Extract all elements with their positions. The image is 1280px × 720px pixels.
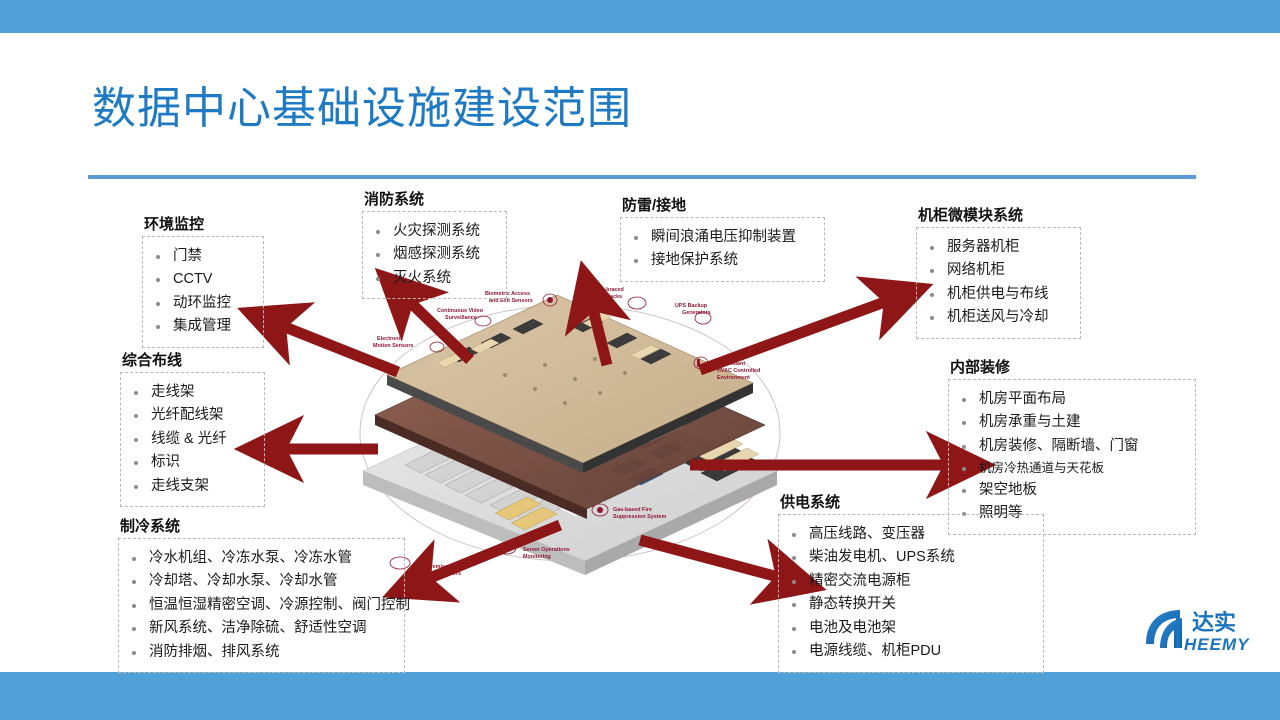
list-item: 电池及电池架 [783, 617, 1033, 640]
group-cabling-list: 走线架 光纤配线架 线缆 & 光纤 标识 走线支架 [125, 381, 254, 498]
bottom-bar [0, 672, 1280, 720]
list-item: 灭火系统 [367, 267, 496, 290]
list-item: 消防排烟、排风系统 [123, 641, 394, 664]
list-item: 网络机柜 [921, 259, 1070, 282]
group-environment-heading: 环境监控 [144, 216, 264, 234]
svg-text:Security Officers: Security Officers [418, 571, 461, 577]
group-cooling-box: 冷水机组、冷冻水泵、冷冻水管 冷却塔、冷却水泵、冷却水管 恒温恒湿精密空调、冷源… [118, 538, 405, 673]
list-item: 机房平面布局 [953, 388, 1185, 411]
group-fire: 消防系统 火灾探测系统 烟感探测系统 灭火系统 [362, 191, 507, 299]
group-cabling-heading: 综合布线 [122, 352, 265, 370]
list-item: 冷水机组、冷冻水泵、冷冻水管 [123, 547, 394, 570]
title-divider [88, 175, 1196, 179]
illus-label-gas: Gas-based Fire [613, 507, 652, 513]
illus-label-ops: Server Operations [523, 547, 570, 553]
list-item: 光纤配线架 [125, 404, 254, 427]
group-fire-box: 火灾探测系统 烟感探测系统 灭火系统 [362, 211, 507, 299]
list-item: 机柜供电与布线 [921, 283, 1070, 306]
svg-text:Server Racks: Server Racks [588, 294, 622, 300]
list-item: 接地保护系统 [625, 249, 814, 272]
slide: 数据中心基础设施建设范围 [0, 0, 1280, 720]
list-item: 走线支架 [125, 475, 254, 498]
illus-label-ups: UPS Backup [675, 303, 708, 309]
list-item: 电源线缆、机柜PDU [783, 640, 1033, 663]
group-cabinet-heading: 机柜微模块系统 [918, 207, 1081, 225]
list-item: 精密交流电源柜 [783, 570, 1033, 593]
datacenter-illustration: Electronic Motion Sensors Continuous Vid… [345, 283, 805, 578]
page-title: 数据中心基础设施建设范围 [92, 72, 632, 136]
list-item: 新风系统、洁净除硫、舒适性空调 [123, 617, 394, 640]
list-item: 门禁 [147, 245, 253, 268]
illus-label-video: Continuous Video [437, 308, 484, 314]
group-lightning-box: 瞬间浪涌电压抑制装置 接地保护系统 [620, 217, 825, 282]
group-cabling-box: 走线架 光纤配线架 线缆 & 光纤 标识 走线支架 [120, 372, 265, 507]
logo-mark [1146, 610, 1182, 648]
svg-text:Environment: Environment [717, 375, 750, 381]
group-fire-heading: 消防系统 [364, 191, 507, 209]
group-environment-list: 门禁 CCTV 动环监控 集成管理 [147, 245, 253, 339]
list-item: 冷却塔、冷却水泵、冷却水管 [123, 570, 394, 593]
list-item: 烟感探测系统 [367, 243, 496, 266]
group-cooling-heading: 制冷系统 [120, 518, 405, 536]
list-item: 瞬间浪涌电压抑制装置 [625, 226, 814, 249]
group-environment: 环境监控 门禁 CCTV 动环监控 集成管理 [142, 216, 264, 348]
group-cooling-list: 冷水机组、冷冻水泵、冷冻水管 冷却塔、冷却水泵、冷却水管 恒温恒湿精密空调、冷源… [123, 547, 394, 664]
group-cabling: 综合布线 走线架 光纤配线架 线缆 & 光纤 标识 走线支架 [120, 352, 265, 507]
group-power-heading: 供电系统 [780, 494, 1044, 512]
group-power-list: 高压线路、变压器 柴油发电机、UPS系统 精密交流电源柜 静态转换开关 电池及电… [783, 523, 1033, 664]
list-item: 服务器机柜 [921, 236, 1070, 259]
group-decoration-heading: 内部装修 [950, 359, 1196, 377]
svg-text:Motion Sensors: Motion Sensors [373, 343, 413, 349]
group-cabinet: 机柜微模块系统 服务器机柜 网络机柜 机柜供电与布线 机柜送风与冷却 [916, 207, 1081, 339]
group-lightning-list: 瞬间浪涌电压抑制装置 接地保护系统 [625, 226, 814, 273]
svg-text:HVAC Controlled: HVAC Controlled [717, 368, 760, 374]
logo-chinese: 达实 [1192, 610, 1236, 635]
group-power-box: 高压线路、变压器 柴油发电机、UPS系统 精密交流电源柜 静态转换开关 电池及电… [778, 514, 1044, 673]
svg-text:Monitoring: Monitoring [523, 554, 551, 560]
illus-label-guards: On-premises [418, 564, 451, 570]
list-item: 机房冷热通道与天花板 [953, 458, 1185, 478]
company-logo: 达实 HEEMY [1140, 604, 1272, 666]
list-item: CCTV [147, 268, 253, 291]
list-item: 机柜送风与冷却 [921, 306, 1070, 329]
group-environment-box: 门禁 CCTV 动环监控 集成管理 [142, 236, 264, 348]
svg-text:Suppression System: Suppression System [613, 514, 667, 520]
group-lightning: 防雷/接地 瞬间浪涌电压抑制装置 接地保护系统 [620, 197, 825, 282]
group-cabinet-list: 服务器机柜 网络机柜 机柜供电与布线 机柜送风与冷却 [921, 236, 1070, 330]
top-bar [0, 0, 1280, 33]
list-item: 柴油发电机、UPS系统 [783, 546, 1033, 569]
list-item: 机房装修、隔断墙、门窗 [953, 435, 1185, 458]
list-item: 高压线路、变压器 [783, 523, 1033, 546]
list-item: 走线架 [125, 381, 254, 404]
group-fire-list: 火灾探测系统 烟感探测系统 灭火系统 [367, 220, 496, 290]
list-item: 动环监控 [147, 292, 253, 315]
list-item: 线缆 & 光纤 [125, 428, 254, 451]
list-item: 标识 [125, 451, 254, 474]
list-item: 恒温恒湿精密空调、冷源控制、阀门控制 [123, 594, 394, 617]
illus-label-motion: Electronic [377, 336, 403, 342]
list-item: 集成管理 [147, 315, 253, 338]
illus-label-racks: Seismically-braced [575, 287, 624, 293]
list-item: 机房承重与土建 [953, 411, 1185, 434]
group-cooling: 制冷系统 冷水机组、冷冻水泵、冷冻水管 冷却塔、冷却水泵、冷却水管 恒温恒湿精密… [118, 518, 405, 673]
group-lightning-heading: 防雷/接地 [622, 197, 825, 215]
logo-latin: HEEMY [1184, 635, 1250, 654]
svg-text:Surveillance: Surveillance [445, 315, 477, 321]
list-item: 静态转换开关 [783, 593, 1033, 616]
group-power: 供电系统 高压线路、变压器 柴油发电机、UPS系统 精密交流电源柜 静态转换开关… [778, 494, 1044, 673]
illus-label-hvac: Redundant [717, 361, 745, 367]
group-cabinet-box: 服务器机柜 网络机柜 机柜供电与布线 机柜送风与冷却 [916, 227, 1081, 339]
list-item: 火灾探测系统 [367, 220, 496, 243]
